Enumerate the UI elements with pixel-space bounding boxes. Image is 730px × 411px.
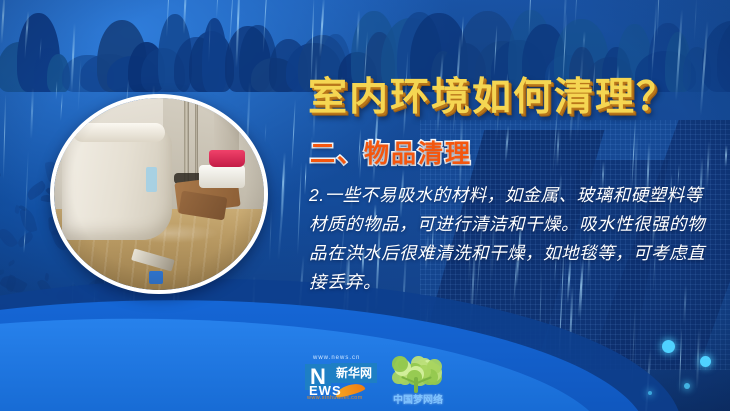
tree-logo[interactable]: 中国梦网络	[381, 355, 453, 403]
bubble-icon	[684, 383, 690, 389]
flood-safety-poster: 室内环境如何清理？ 二、物品清理 2.一些不易吸水的材料，如金属、玻璃和硬塑料等…	[0, 0, 730, 411]
bubble-icon	[648, 391, 652, 395]
flooded-room-photo	[50, 94, 268, 294]
logo-row: www.news.cn N 新华网 EWS www.xinhuanet.com …	[305, 355, 455, 403]
section-subtitle: 二、物品清理	[310, 134, 472, 170]
tree-logo-caption: 中国梦网络	[385, 391, 451, 406]
body-paragraph: 2.一些不易吸水的材料，如金属、玻璃和硬塑料等材质的物品，可进行清洁和干燥。吸水…	[309, 181, 709, 297]
bubble-icon	[700, 356, 711, 367]
xinhua-cn-name: 新华网	[331, 363, 377, 383]
photo-vignette	[54, 98, 264, 290]
page-title: 室内环境如何清理？	[308, 66, 677, 122]
xinhua-url-bottom: www.xinhuanet.com	[307, 395, 363, 401]
xinhua-url-top: www.news.cn	[313, 355, 360, 361]
xinhua-logo[interactable]: www.news.cn N 新华网 EWS www.xinhuanet.com	[305, 355, 379, 401]
bubble-icon	[662, 340, 675, 353]
photo-content	[54, 98, 264, 290]
